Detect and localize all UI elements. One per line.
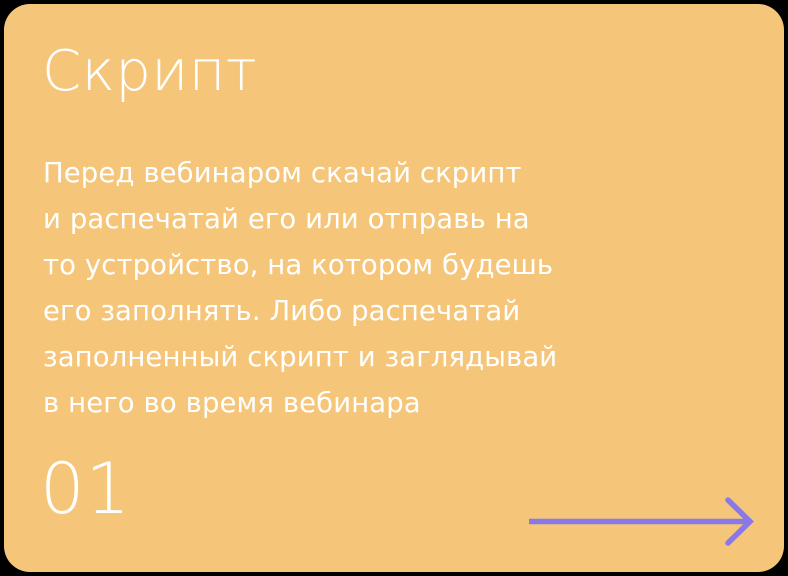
script-step-card: Скрипт Перед вебинаром скачай скрипт и р… xyxy=(4,4,784,572)
step-number: 01 xyxy=(40,454,131,524)
body-line: то устройство, на котором будешь xyxy=(43,242,703,288)
arrow-right-glyph xyxy=(522,494,760,550)
body-line: заполненный скрипт и заглядывай xyxy=(43,334,703,380)
body-line: в него во время вебинара xyxy=(43,380,703,426)
card-title: Скрипт xyxy=(42,42,257,102)
card-body-text: Перед вебинаром скачай скрипт и распечат… xyxy=(43,150,703,426)
body-line: его заполнять. Либо распечатай xyxy=(43,288,703,334)
arrow-right-icon[interactable] xyxy=(522,494,760,550)
body-line: и распечатай его или отправь на xyxy=(43,196,703,242)
body-line: Перед вебинаром скачай скрипт xyxy=(43,150,703,196)
slide-canvas: Скрипт Перед вебинаром скачай скрипт и р… xyxy=(0,0,788,576)
